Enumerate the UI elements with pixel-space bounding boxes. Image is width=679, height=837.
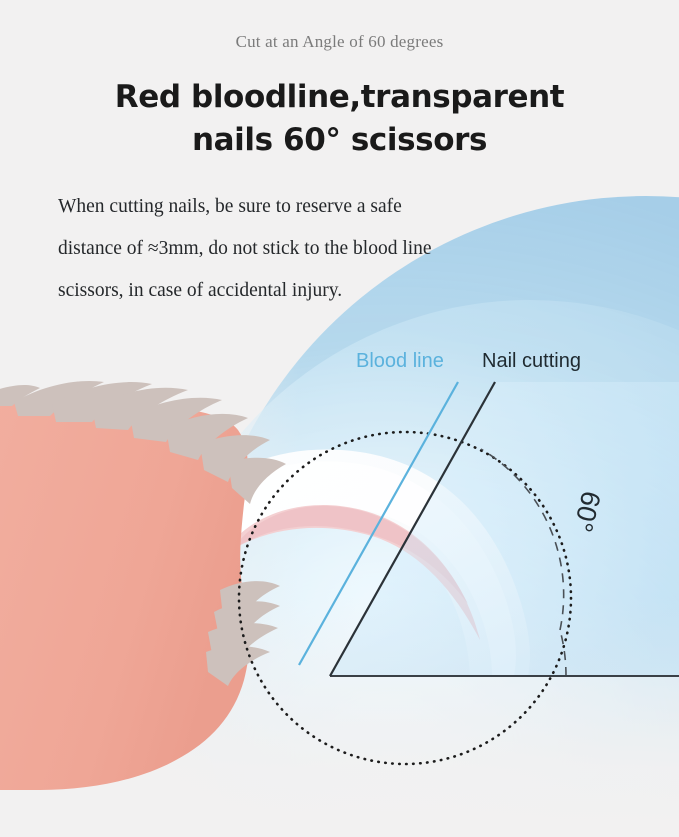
body-copy: When cutting nails, be sure to reserve a… <box>0 186 679 312</box>
body-line-2: distance of ≈3mm, do not stick to the bl… <box>58 228 623 270</box>
paw-illustration <box>0 381 286 790</box>
body-line-1: When cutting nails, be sure to reserve a… <box>58 186 623 228</box>
legend-blood-line: Blood line <box>356 350 444 373</box>
text-block: Cut at an Angle of 60 degrees Red bloodl… <box>0 0 679 312</box>
legend-nail-cutting: Nail cutting <box>482 350 581 373</box>
body-line-3: scissors, in case of accidental injury. <box>58 270 623 312</box>
infographic-root: Blood line Nail cutting 60° Cut at an An… <box>0 0 679 837</box>
eyebrow-text: Cut at an Angle of 60 degrees <box>0 32 679 52</box>
page-title: Red bloodline,transparent nails 60° scis… <box>0 76 679 162</box>
headline-line-1: Red bloodline,transparent <box>48 76 631 119</box>
headline-line-2: nails 60° scissors <box>48 119 631 162</box>
